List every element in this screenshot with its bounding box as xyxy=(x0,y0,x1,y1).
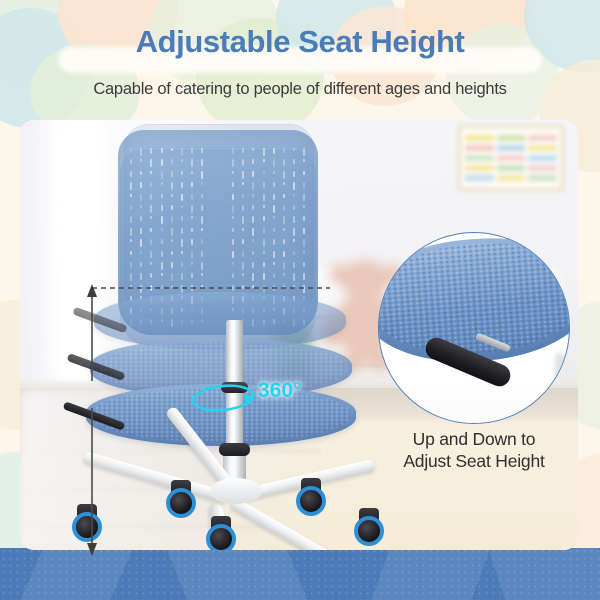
callout-caption-line1: Up and Down to xyxy=(358,428,590,450)
header: Adjustable Seat Height Capable of cateri… xyxy=(0,0,600,120)
caster-wheel xyxy=(206,524,236,550)
page-title: Adjustable Seat Height xyxy=(0,24,600,60)
callout-furniture-edge xyxy=(555,353,565,389)
caster-wheel xyxy=(72,512,102,542)
page-subtitle: Capable of catering to people of differe… xyxy=(0,80,600,99)
callout-caption: Up and Down to Adjust Seat Height xyxy=(358,428,590,472)
caster-wheel xyxy=(296,486,326,516)
seat-mesh-low xyxy=(92,388,350,442)
base-leg xyxy=(229,497,358,550)
callout-seat-mesh xyxy=(378,237,570,361)
caster-wheel xyxy=(354,516,384,546)
bottom-bar-shape xyxy=(487,548,600,600)
cylinder-collar-lower xyxy=(219,443,250,456)
rotation-badge: 360° xyxy=(258,379,301,403)
cylinder-collar xyxy=(221,382,248,393)
callout-caption-line2: Adjust Seat Height xyxy=(358,450,590,472)
caster-wheel xyxy=(166,488,196,518)
product-feature-banner: Adjustable Seat Height Capable of cateri… xyxy=(0,0,600,600)
bottom-bar xyxy=(0,548,600,600)
seat-lever-callout xyxy=(378,232,570,424)
base-hub xyxy=(210,478,262,504)
